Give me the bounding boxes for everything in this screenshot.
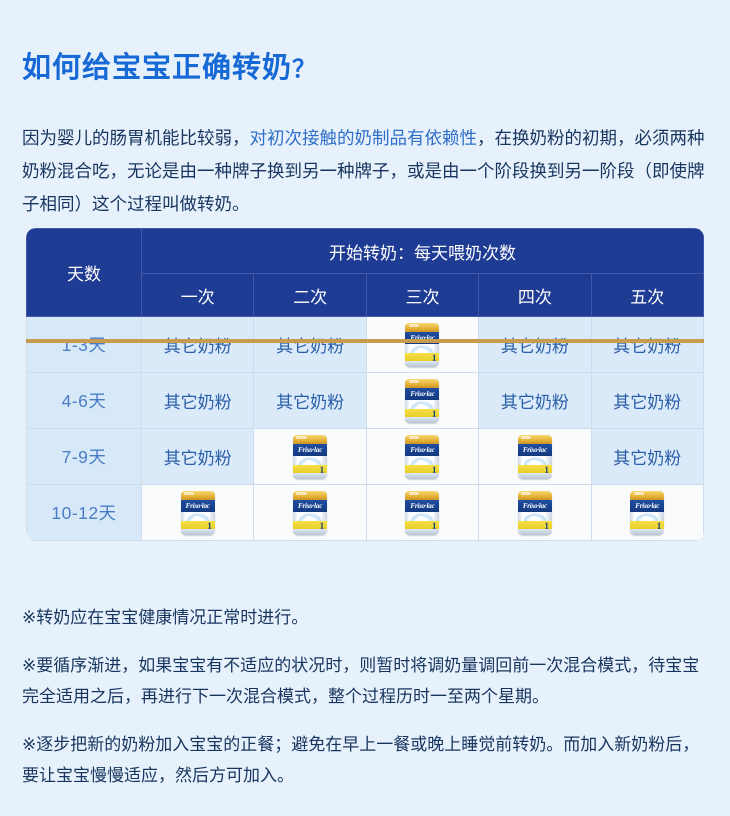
- cell-other-formula: 其它奶粉: [591, 317, 703, 373]
- can-brand-text: Friso·lac: [518, 445, 552, 456]
- can-lid: [630, 491, 664, 500]
- cell-new-formula: Friso·lac1: [591, 485, 703, 541]
- header-feed-2: 二次: [254, 274, 366, 317]
- footnote-item: ※逐步把新的奶粉加入宝宝的正餐；避免在早上一餐或晚上睡觉前转奶。而加入新奶粉后，…: [22, 729, 712, 791]
- can-brand-text: Friso·lac: [405, 445, 439, 456]
- header-group-feedings: 开始转奶：每天喂奶次数: [142, 229, 704, 274]
- can-lid: [405, 491, 439, 500]
- schedule-grid: 天数 开始转奶：每天喂奶次数 一次 二次 三次 四次 五次 1-3天其它奶粉其它…: [26, 228, 704, 541]
- can-lid: [405, 379, 439, 388]
- can-base: [293, 473, 327, 479]
- cell-other-formula: 其它奶粉: [591, 429, 703, 485]
- cell-new-formula: Friso·lac1: [366, 317, 478, 373]
- can-brand-text: Friso·lac: [630, 501, 664, 512]
- milk-can-icon: Friso·lac1: [518, 435, 552, 479]
- cell-new-formula: Friso·lac1: [479, 429, 591, 485]
- page-title: 如何给宝宝正确转奶？: [22, 44, 317, 86]
- can-base: [293, 529, 327, 535]
- cell-new-formula: Friso·lac1: [366, 429, 478, 485]
- can-base: [518, 529, 552, 535]
- cell-other-formula: 其它奶粉: [479, 317, 591, 373]
- header-gold-divider: [26, 339, 704, 343]
- milk-can-icon: Friso·lac1: [405, 323, 439, 367]
- header-feed-3: 三次: [366, 274, 478, 317]
- table-row: 1-3天其它奶粉其它奶粉Friso·lac1其它奶粉其它奶粉: [27, 317, 704, 373]
- can-brand-text: Friso·lac: [293, 445, 327, 456]
- cell-other-formula: 其它奶粉: [479, 373, 591, 429]
- milk-can-icon: Friso·lac1: [518, 491, 552, 535]
- milk-can-icon: Friso·lac1: [405, 435, 439, 479]
- table-row: 10-12天Friso·lac1Friso·lac1Friso·lac1Fris…: [27, 485, 704, 541]
- can-brand-text: Friso·lac: [181, 501, 215, 512]
- cell-new-formula: Friso·lac1: [254, 485, 366, 541]
- milk-can-icon: Friso·lac1: [630, 491, 664, 535]
- intro-paragraph: 因为婴儿的肠胃机能比较弱，对初次接触的奶制品有依赖性，在换奶粉的初期，必须两种奶…: [22, 122, 710, 221]
- cell-other-formula: 其它奶粉: [142, 317, 254, 373]
- milk-can-icon: Friso·lac1: [181, 491, 215, 535]
- cell-other-formula: 其它奶粉: [591, 373, 703, 429]
- intro-highlight: 对初次接触的奶制品有依赖性: [250, 128, 478, 148]
- table-body: 1-3天其它奶粉其它奶粉Friso·lac1其它奶粉其它奶粉4-6天其它奶粉其它…: [27, 317, 704, 541]
- row-day-label: 10-12天: [27, 485, 142, 541]
- can-base: [630, 529, 664, 535]
- milk-can-icon: Friso·lac1: [405, 491, 439, 535]
- header-days: 天数: [27, 229, 142, 317]
- milk-can-icon: Friso·lac1: [293, 491, 327, 535]
- can-base: [181, 529, 215, 535]
- milk-can-icon: Friso·lac1: [405, 379, 439, 423]
- cell-new-formula: Friso·lac1: [479, 485, 591, 541]
- footnotes: ※转奶应在宝宝健康情况正常时进行。※要循序渐进，如果宝宝有不适应的状况时，则暂时…: [22, 585, 712, 805]
- row-day-label: 7-9天: [27, 429, 142, 485]
- cell-new-formula: Friso·lac1: [366, 373, 478, 429]
- cell-other-formula: 其它奶粉: [142, 373, 254, 429]
- can-brand-text: Friso·lac: [293, 501, 327, 512]
- transition-schedule-table: 天数 开始转奶：每天喂奶次数 一次 二次 三次 四次 五次 1-3天其它奶粉其它…: [26, 228, 704, 541]
- can-base: [405, 529, 439, 535]
- row-day-label: 4-6天: [27, 373, 142, 429]
- footnote-item: ※要循序渐进，如果宝宝有不适应的状况时，则暂时将调奶量调回前一次混合模式，待宝宝…: [22, 650, 712, 712]
- intro-part-1: 因为婴儿的肠胃机能比较弱，: [22, 128, 250, 148]
- can-lid: [518, 435, 552, 444]
- header-row-group: 天数 开始转奶：每天喂奶次数: [27, 229, 704, 274]
- can-base: [405, 473, 439, 479]
- can-base: [405, 417, 439, 423]
- page-title-question-mark: ？: [292, 56, 317, 83]
- can-lid: [518, 491, 552, 500]
- can-lid: [181, 491, 215, 500]
- can-lid: [293, 435, 327, 444]
- cell-new-formula: Friso·lac1: [254, 429, 366, 485]
- table-head: 天数 开始转奶：每天喂奶次数 一次 二次 三次 四次 五次: [27, 229, 704, 317]
- footnote-item: ※转奶应在宝宝健康情况正常时进行。: [22, 602, 712, 633]
- header-feed-1: 一次: [142, 274, 254, 317]
- table-row: 7-9天其它奶粉Friso·lac1Friso·lac1Friso·lac1其它…: [27, 429, 704, 485]
- can-lid: [405, 323, 439, 332]
- can-brand-text: Friso·lac: [405, 501, 439, 512]
- cell-other-formula: 其它奶粉: [142, 429, 254, 485]
- cell-new-formula: Friso·lac1: [366, 485, 478, 541]
- row-day-label: 1-3天: [27, 317, 142, 373]
- cell-new-formula: Friso·lac1: [142, 485, 254, 541]
- header-feed-4: 四次: [479, 274, 591, 317]
- can-brand-text: Friso·lac: [518, 501, 552, 512]
- can-lid: [293, 491, 327, 500]
- cell-other-formula: 其它奶粉: [254, 373, 366, 429]
- can-base: [405, 361, 439, 367]
- can-base: [518, 473, 552, 479]
- can-brand-text: Friso·lac: [405, 389, 439, 400]
- page-title-text: 如何给宝宝正确转奶: [22, 52, 292, 84]
- header-feed-5: 五次: [591, 274, 703, 317]
- can-lid: [405, 435, 439, 444]
- cell-other-formula: 其它奶粉: [254, 317, 366, 373]
- milk-can-icon: Friso·lac1: [293, 435, 327, 479]
- table-row: 4-6天其它奶粉其它奶粉Friso·lac1其它奶粉其它奶粉: [27, 373, 704, 429]
